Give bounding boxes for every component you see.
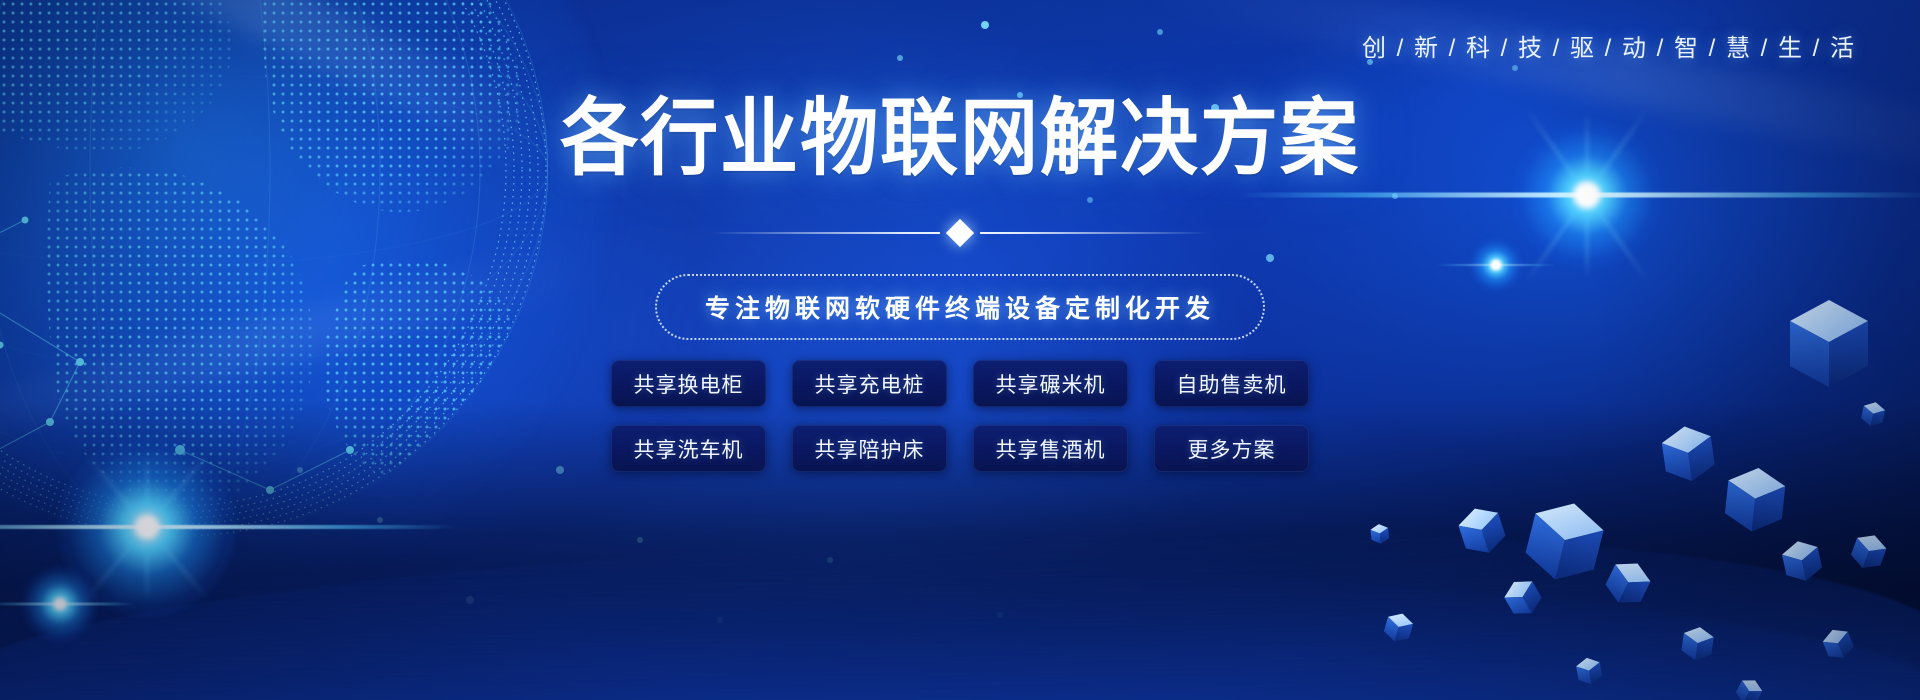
diamond-icon (946, 219, 974, 247)
solution-button[interactable]: 共享充电桩 (792, 360, 947, 407)
solution-button-grid: 共享换电柜共享充电桩共享碾米机自助售卖机共享洗车机共享陪护床共享售酒机更多方案 (611, 360, 1309, 472)
solution-button[interactable]: 共享换电柜 (611, 360, 766, 407)
banner-headline: 各行业物联网解决方案 (67, 96, 1853, 180)
divider-bar-right (980, 232, 1210, 234)
iot-solution-banner: 创 / 新 / 科 / 技 / 驱 / 动 / 智 / 慧 / 生 / 活 各行… (0, 0, 1920, 700)
banner-tagline: 创 / 新 / 科 / 技 / 驱 / 动 / 智 / 慧 / 生 / 活 (0, 28, 1856, 63)
solution-button[interactable]: 自助售卖机 (1154, 360, 1309, 407)
solution-button[interactable]: 更多方案 (1154, 425, 1309, 472)
banner-subtitle: 专注物联网软硬件终端设备定制化开发 (655, 274, 1265, 340)
title-divider (0, 222, 1920, 244)
solution-button[interactable]: 共享售酒机 (973, 425, 1128, 472)
solution-button[interactable]: 共享陪护床 (792, 425, 947, 472)
solution-button[interactable]: 共享碾米机 (973, 360, 1128, 407)
solution-button[interactable]: 共享洗车机 (611, 425, 766, 472)
divider-bar-left (710, 232, 940, 234)
banner-content: 创 / 新 / 科 / 技 / 驱 / 动 / 智 / 慧 / 生 / 活 各行… (0, 0, 1920, 700)
